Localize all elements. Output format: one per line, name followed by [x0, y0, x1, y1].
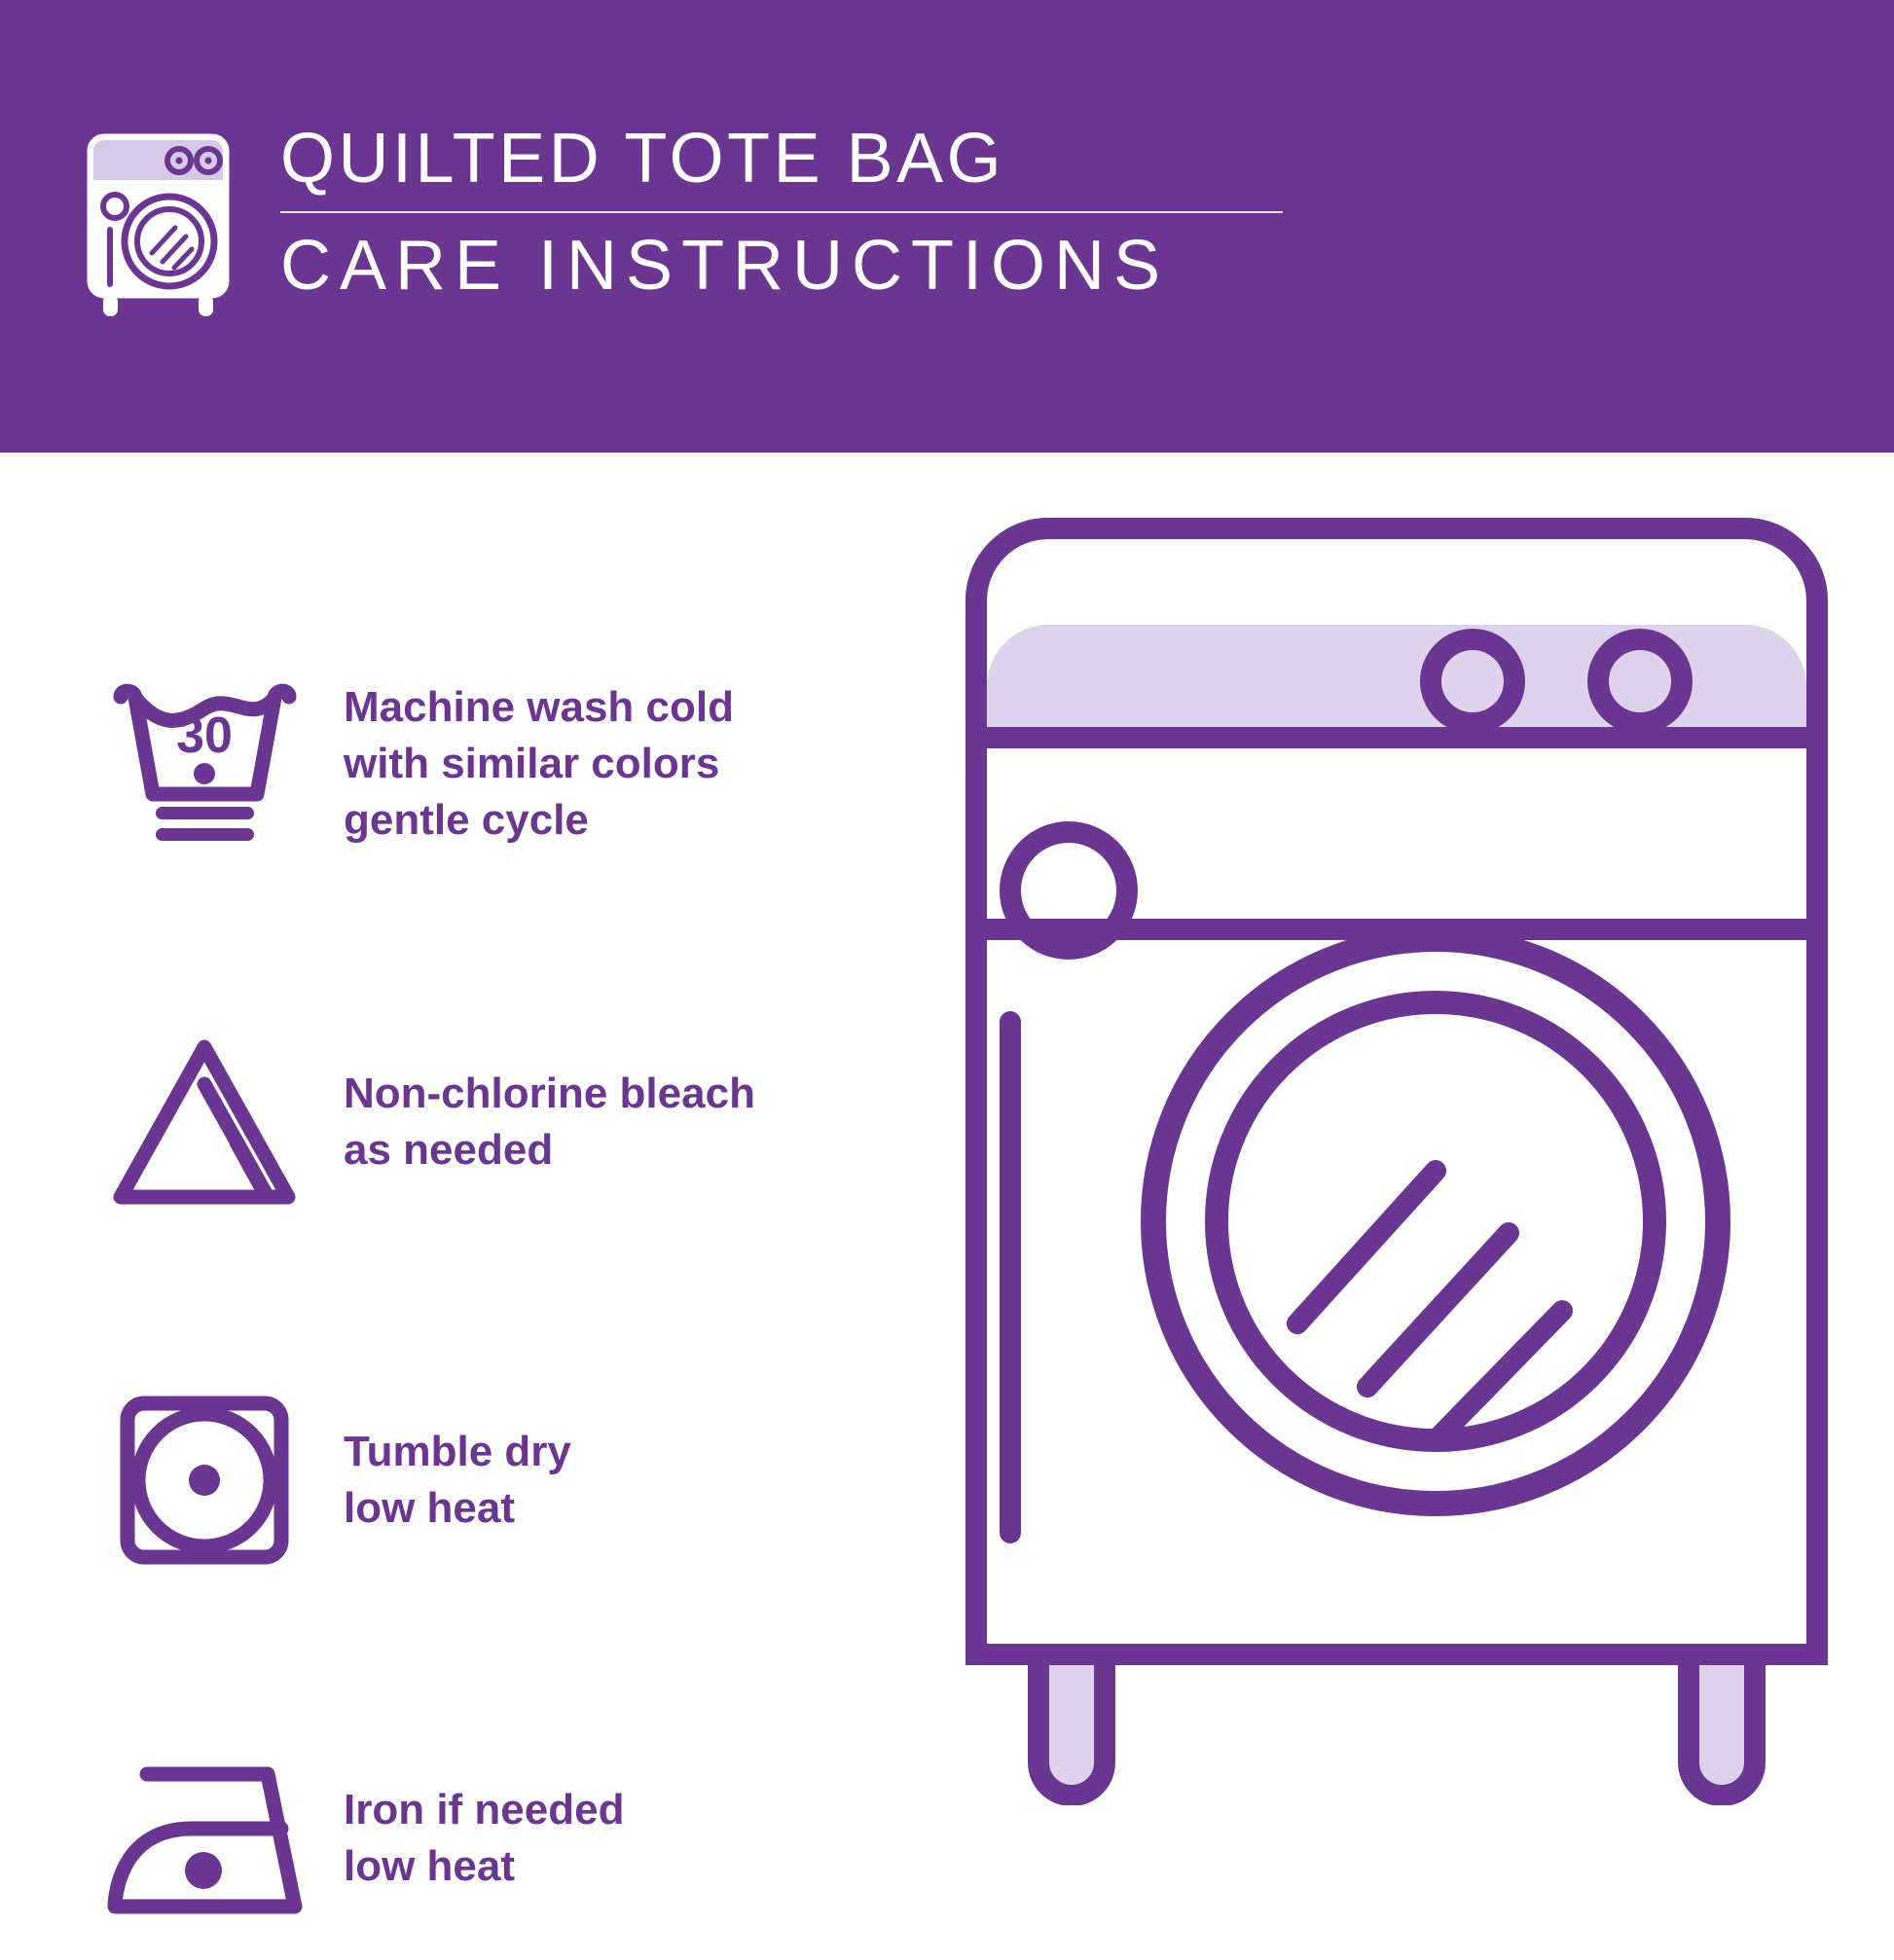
washing-machine-icon: [78, 128, 238, 318]
non-chlorine-bleach-triangle-icon: [92, 1034, 316, 1211]
knob-left: [1431, 639, 1514, 723]
instruction-line: with similar colors: [344, 736, 734, 792]
instruction-line: as needed: [344, 1122, 755, 1179]
instruction-item-dry: Tumble dry low heat: [92, 1359, 891, 1602]
instruction-line: gentle cycle: [344, 792, 734, 849]
header-text-block: QUILTED TOTE BAG CARE INSTRUCTIONS: [280, 122, 1312, 305]
care-instructions-page: QUILTED TOTE BAG CARE INSTRUCTIONS 30: [0, 0, 1894, 1894]
knob-right: [1598, 639, 1682, 723]
page-subtitle: CARE INSTRUCTIONS: [280, 229, 1312, 305]
page-title: QUILTED TOTE BAG: [280, 122, 1312, 198]
machine-cabinet: [976, 929, 1817, 1654]
instruction-line: low heat: [344, 1480, 571, 1537]
instruction-item-bleach: Non-chlorine bleach as needed: [92, 1000, 891, 1244]
instruction-text-iron: Iron if needed low heat: [344, 1782, 624, 1895]
front-load-washing-machine-illustration: [959, 511, 1835, 1805]
title-divider: [280, 211, 1283, 213]
leg-left: [1038, 1665, 1105, 1796]
page-content: 30 Machine wash cold with similar colors…: [0, 453, 1894, 1894]
page-header: QUILTED TOTE BAG CARE INSTRUCTIONS: [0, 0, 1894, 453]
iron-low-heat-icon: [92, 1759, 316, 1919]
instruction-text-dry: Tumble dry low heat: [344, 1424, 571, 1537]
instruction-line: Non-chlorine bleach: [344, 1066, 755, 1122]
instruction-line: low heat: [344, 1838, 624, 1895]
instruction-item-wash: 30 Machine wash cold with similar colors…: [92, 642, 891, 886]
instruction-line: Tumble dry: [344, 1424, 571, 1480]
wash-tub-30-gentle-icon: 30: [92, 679, 316, 850]
instruction-line: Machine wash cold: [344, 679, 734, 736]
instruction-text-bleach: Non-chlorine bleach as needed: [344, 1066, 755, 1179]
instruction-line: Iron if needed: [344, 1782, 624, 1838]
wash-temp-label: 30: [176, 708, 233, 764]
tumble-dry-low-icon: [92, 1393, 316, 1568]
instruction-item-iron: Iron if needed low heat: [92, 1717, 891, 1960]
leg-right: [1689, 1665, 1755, 1796]
instruction-text-wash: Machine wash cold with similar colors ge…: [344, 679, 734, 849]
instruction-list: 30 Machine wash cold with similar colors…: [92, 642, 891, 1960]
